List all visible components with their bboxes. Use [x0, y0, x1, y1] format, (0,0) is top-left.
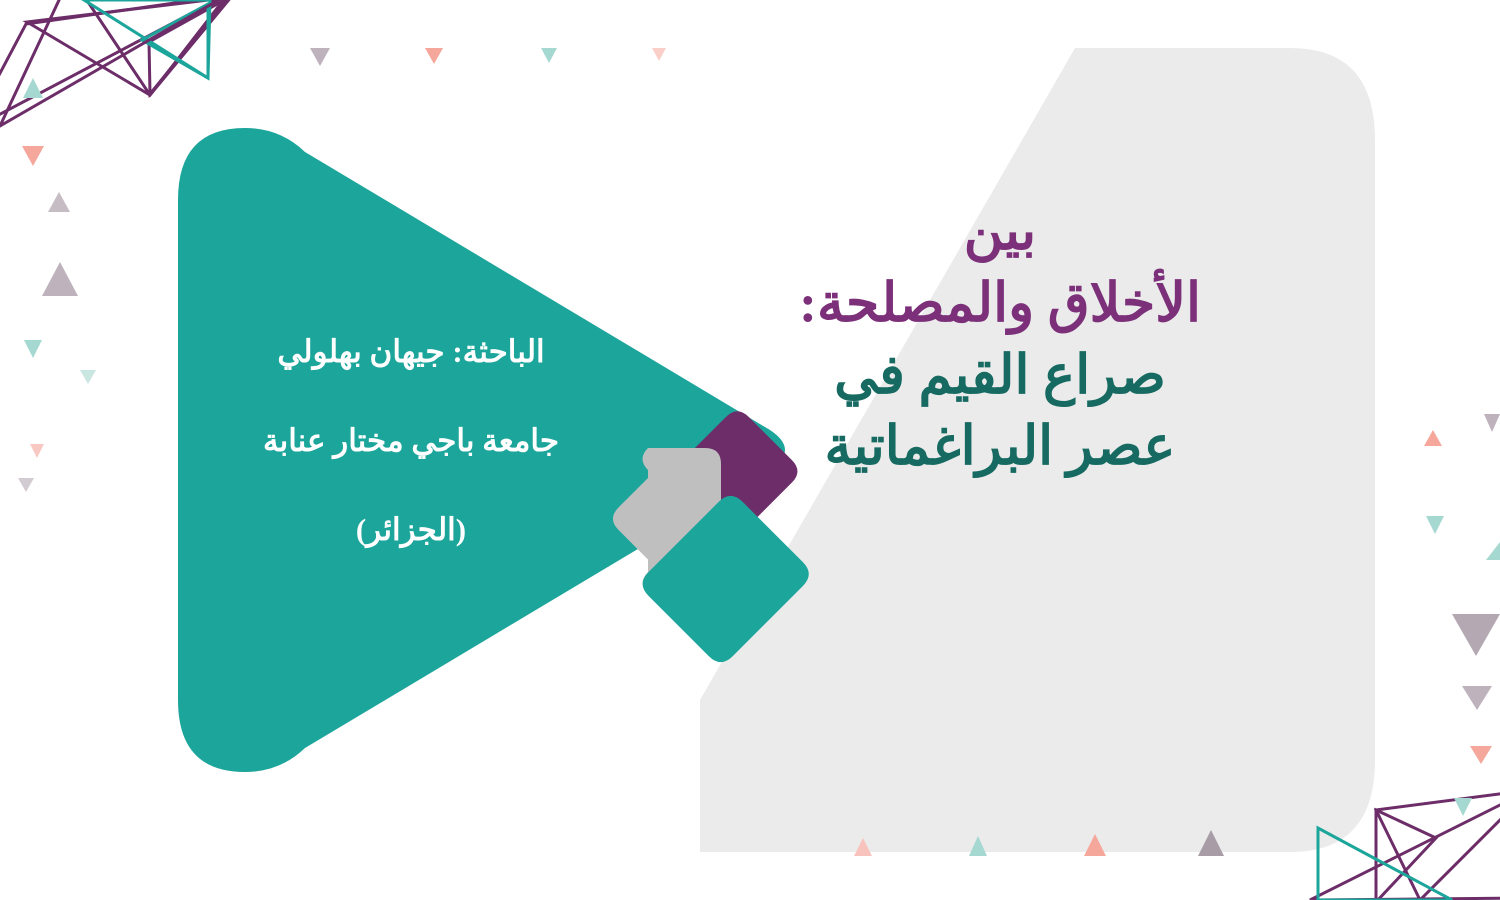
deco-small-triangle-pink-right-2: [1470, 746, 1492, 764]
deco-outline-triangle-teal-down: [84, 0, 210, 78]
author-country-line: (الجزائر): [196, 514, 626, 545]
author-researcher-line: الباحثة: جيهان بهلولي: [196, 336, 626, 367]
deco-small-triangle-pink-bottom: [854, 838, 872, 856]
deco-small-triangle-pink-left-2: [30, 444, 44, 458]
title-line-3: صراع القيم في: [740, 340, 1260, 412]
logo-gray-arrow-icon: [643, 448, 722, 594]
deco-outline-triangle-br-purple-down: [1376, 810, 1436, 900]
deco-small-triangle-mint-left-3: [80, 370, 96, 384]
deco-outline-triangle-purple-long: [27, 0, 225, 95]
deco-small-triangle-mauve-right-big: [1452, 614, 1500, 656]
deco-small-triangle-mauve-right: [1484, 414, 1500, 432]
deco-outline-triangle-purple-wide: [0, 0, 224, 130]
deco-small-triangle-pink-right: [1424, 430, 1442, 446]
deco-outline-triangle-br-purple-x: [1310, 790, 1500, 900]
logo-teal-arrow-icon: [637, 490, 815, 668]
deco-outline-triangle-teal-tall: [142, 4, 208, 78]
deco-small-triangle-mint-right-2: [1486, 542, 1500, 560]
deco-outline-triangle-purple-down: [149, 0, 228, 94]
deco-outline-triangle-br-purple-wide: [1376, 790, 1500, 900]
deco-small-triangle-mauve-left: [48, 192, 70, 212]
deco-outline-triangle-purple-down-2: [84, 0, 232, 95]
deco-small-triangle-mauve-bottom: [1198, 830, 1224, 856]
author-affiliation-block: الباحثة: جيهان بهلولي جامعة باجي مختار ع…: [196, 336, 626, 545]
deco-small-triangle-pink: [425, 48, 443, 64]
deco-small-triangle-mint-left-2: [24, 340, 42, 358]
deco-small-triangle-mint-left: [23, 78, 43, 98]
deco-small-triangle-pink-left: [22, 146, 44, 166]
author-affiliation-line: جامعة باجي مختار عنابة: [196, 425, 626, 456]
deco-small-triangle-mint-right: [1426, 516, 1444, 534]
deco-outline-triangle-br-teal: [1318, 828, 1452, 900]
deco-small-triangle-pink-pale: [652, 48, 666, 61]
title-line-1: بين: [740, 196, 1260, 268]
deco-small-triangle-mauve-left-2: [42, 262, 78, 296]
deco-small-triangle-mauve-right-2: [1462, 686, 1492, 710]
slide-canvas: بين الأخلاق والمصلحة: صراع القيم في عصر …: [0, 0, 1500, 900]
title-line-2: الأخلاق والمصلحة:: [740, 268, 1260, 340]
deco-small-triangle-mauve-left-3: [18, 478, 34, 492]
deco-outline-triangle-purple-big: [0, 0, 222, 126]
deco-small-triangle-mint: [541, 48, 557, 63]
slide-title: بين الأخلاق والمصلحة: صراع القيم في عصر …: [740, 196, 1260, 483]
deco-small-triangle-mint-bottom: [969, 836, 987, 856]
title-line-4: عصر البراغماتية: [740, 411, 1260, 483]
deco-small-triangle-mauve: [310, 48, 330, 66]
deco-small-triangle-mint-right-3: [1454, 798, 1472, 816]
deco-small-triangle-pink-bottom-2: [1084, 834, 1106, 856]
